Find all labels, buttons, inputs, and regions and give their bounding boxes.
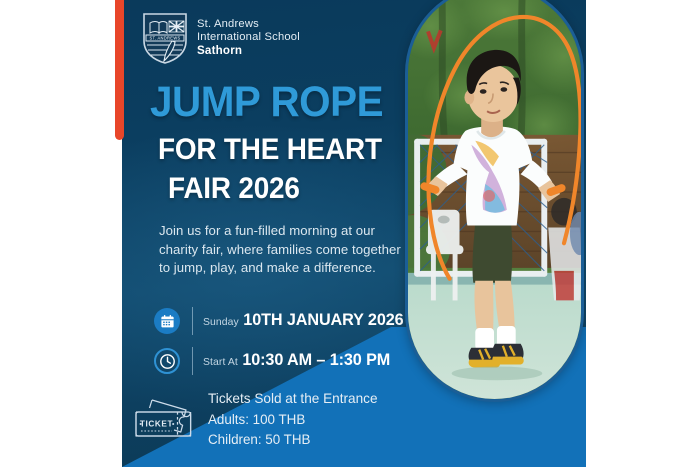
detail-row-time: Start At 10:30 AM – 1:30 PM <box>154 343 404 379</box>
detail-kicker: Start At <box>203 357 238 368</box>
headline-tertiary: FAIR 2026 <box>168 173 383 205</box>
row-divider <box>192 307 193 335</box>
brand-line-1: St. Andrews <box>197 18 300 31</box>
headline-block: JUMP ROPE FOR THE HEART FAIR 2026 <box>150 82 399 204</box>
detail-text-time: Start At 10:30 AM – 1:30 PM <box>203 351 390 370</box>
red-accent-stripe <box>115 0 124 140</box>
detail-value: 10TH JANUARY 2026 <box>243 311 403 329</box>
poster-canvas: ST. ANDREWS St. Andrews International Sc… <box>0 0 700 467</box>
row-divider <box>192 347 193 375</box>
ticket-heading: Tickets Sold at the Entrance <box>208 389 378 410</box>
ticket-info-block: TICKET Tickets Sold at the Entrance Adul… <box>130 389 378 450</box>
brand-line-3: Sathorn <box>197 44 300 58</box>
ticket-icon: TICKET <box>130 394 200 446</box>
event-description: Join us for a fun-filled morning at our … <box>159 222 405 278</box>
right-white-margin <box>586 0 700 467</box>
st-andrews-crest-icon: ST. ANDREWS <box>142 11 188 65</box>
event-details-list: Sunday 10TH JANUARY 2026 Start At 10:30 … <box>154 303 404 379</box>
svg-text:ST. ANDREWS: ST. ANDREWS <box>149 36 180 41</box>
detail-kicker: Sunday <box>203 317 239 328</box>
left-white-margin <box>0 0 115 467</box>
ticket-price-children: Children: 50 THB <box>208 430 378 450</box>
brand-text: St. Andrews International School Sathorn <box>197 18 300 58</box>
headline-primary: JUMP ROPE <box>150 82 384 124</box>
ticket-price-adults: Adults: 100 THB <box>208 410 378 430</box>
detail-row-date: Sunday 10TH JANUARY 2026 <box>154 303 404 339</box>
brand-lockup: ST. ANDREWS St. Andrews International Sc… <box>142 11 300 65</box>
boy-jumping-rope-photo <box>405 0 584 402</box>
ticket-text: Tickets Sold at the Entrance Adults: 100… <box>208 389 378 450</box>
detail-text-date: Sunday 10TH JANUARY 2026 <box>203 311 404 330</box>
clock-icon <box>154 348 180 374</box>
headline-secondary: FOR THE HEART <box>158 134 382 166</box>
ticket-icon-label: TICKET <box>140 419 173 428</box>
brand-line-2: International School <box>197 31 300 44</box>
detail-value: 10:30 AM – 1:30 PM <box>242 351 390 369</box>
calendar-icon <box>154 308 180 334</box>
